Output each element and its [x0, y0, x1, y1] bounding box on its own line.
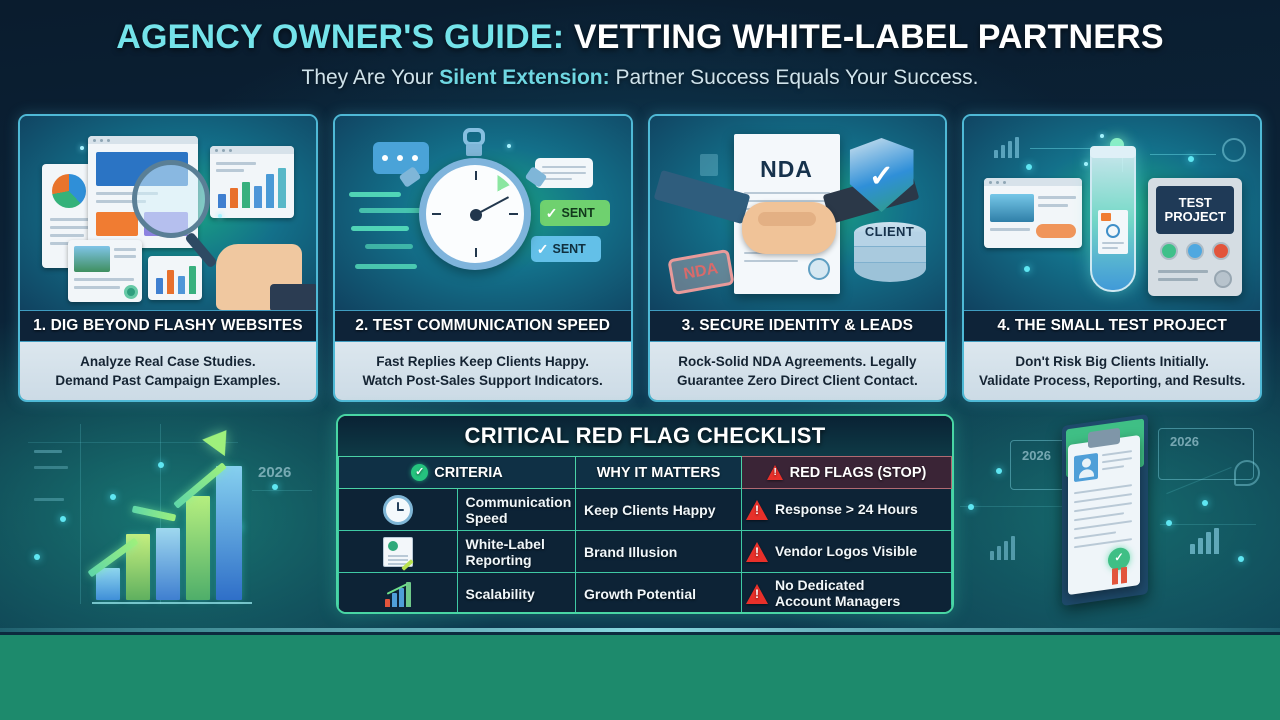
- step-card-4[interactable]: TEST PROJECT 4. THE SMALL TEST PROJECT D…: [962, 114, 1262, 402]
- cell-criteria: Communication Speed: [457, 489, 576, 531]
- test-project-device: TEST PROJECT: [1148, 178, 1242, 296]
- table-row: White-Label Reporting Brand Illusion Ven…: [339, 531, 952, 573]
- step-card-1-body: Analyze Real Case Studies. Demand Past C…: [20, 342, 316, 400]
- test-tube: [1090, 146, 1136, 292]
- row-icon-report: [339, 531, 458, 573]
- analytics-window: [210, 146, 294, 218]
- mini-bar-chart: [148, 256, 202, 300]
- nda-handshake-shield-icon: NDA ✓: [650, 116, 946, 310]
- nda-stamp: NDA: [667, 249, 734, 295]
- check-icon: ✓: [546, 205, 558, 222]
- step-card-3-body: Rock-Solid NDA Agreements. Legally Guara…: [650, 342, 946, 400]
- step-card-1-line1: Analyze Real Case Studies.: [80, 352, 256, 371]
- cell-red-flag-line2: Account Managers: [775, 594, 900, 610]
- stopwatch-chat-bubbles-icon: ✓ SENT ✓ SENT: [335, 116, 631, 310]
- media-card: [68, 240, 142, 302]
- cell-why: Brand Illusion: [576, 531, 742, 573]
- sent-badge-blue: ✓ SENT: [531, 236, 601, 262]
- checklist-table: CRITERIA WHY IT MATTERS RED FLAGS (STOP): [338, 456, 952, 614]
- row-icon-growth: [339, 573, 458, 615]
- growth-chart-decoration: 2026: [0, 406, 330, 628]
- header: AGENCY OWNER'S GUIDE: VETTING WHITE-LABE…: [0, 18, 1280, 90]
- browser-preview: [984, 178, 1082, 248]
- sent-badge-green: ✓ SENT: [540, 200, 610, 226]
- step-card-3-line2: Guarantee Zero Direct Client Contact.: [677, 371, 918, 390]
- cell-red-flag: No Dedicated Account Managers: [742, 573, 952, 615]
- step-card-2-line1: Fast Replies Keep Clients Happy.: [376, 352, 589, 371]
- page-subtitle: They Are Your Silent Extension: Partner …: [0, 66, 1280, 90]
- sent-label-1: SENT: [561, 206, 594, 220]
- red-button[interactable]: [1212, 242, 1230, 260]
- step-card-3[interactable]: NDA ✓: [648, 114, 948, 402]
- test-tube-device-icon: TEST PROJECT: [964, 116, 1260, 310]
- knob[interactable]: [1214, 270, 1232, 288]
- right-year-label-2: 2026: [1170, 434, 1199, 449]
- column-header-red-flags: RED FLAGS (STOP): [742, 457, 952, 489]
- nda-stamp-label: NDA: [682, 260, 719, 284]
- column-header-why-label: WHY IT MATTERS: [597, 465, 721, 481]
- chat-icon: [1234, 460, 1260, 486]
- step-card-4-title: 4. THE SMALL TEST PROJECT: [964, 310, 1260, 342]
- magnifying-glass-dashboards-icon: [20, 116, 316, 310]
- blue-button[interactable]: [1186, 242, 1204, 260]
- client-db-label: CLIENT: [854, 224, 926, 239]
- column-header-criteria: CRITERIA: [339, 457, 576, 489]
- table-header-row: CRITERIA WHY IT MATTERS RED FLAGS (STOP): [339, 457, 952, 489]
- left-year-label: 2026: [258, 464, 291, 481]
- arrow-head: [202, 422, 238, 456]
- green-button[interactable]: [1160, 242, 1178, 260]
- gear-icon: [1222, 138, 1246, 162]
- doc-search-glyph: [700, 154, 718, 176]
- growth-chart-icon: [383, 579, 413, 609]
- sleeve: [270, 284, 316, 310]
- row-icon-clock: [339, 489, 458, 531]
- report-document-icon: [383, 537, 413, 567]
- step-card-2-body: Fast Replies Keep Clients Happy. Watch P…: [335, 342, 631, 400]
- warning-icon: [746, 584, 768, 604]
- bottom-green-bar: [0, 632, 1280, 720]
- cell-red-flag-line1: No Dedicated: [775, 578, 900, 594]
- sent-label-2: SENT: [552, 242, 585, 256]
- warning-icon: [746, 542, 768, 562]
- subtitle-pre: They Are Your: [302, 66, 440, 89]
- step-card-4-line1: Don't Risk Big Clients Initially.: [1015, 352, 1208, 371]
- steps-card-row: 1. DIG BEYOND FLASHY WEBSITES Analyze Re…: [18, 114, 1262, 402]
- subtitle-accent: Silent Extension:: [439, 66, 609, 89]
- typing-bubble: [373, 142, 429, 174]
- shield-check-icon: ✓: [850, 162, 914, 192]
- column-header-criteria-label: CRITERIA: [434, 465, 502, 481]
- cell-why: Keep Clients Happy: [576, 489, 742, 531]
- device-label-2: PROJECT: [1165, 210, 1226, 224]
- cell-criteria: Scalability: [457, 573, 576, 615]
- step-card-1-title: 1. DIG BEYOND FLASHY WEBSITES: [20, 310, 316, 342]
- clock-icon: [383, 495, 413, 525]
- step-card-4-line2: Validate Process, Reporting, and Results…: [979, 371, 1245, 390]
- cell-red-flag-label: Response > 24 Hours: [775, 502, 918, 518]
- nda-doc-label: NDA: [734, 156, 840, 183]
- step-card-2[interactable]: ✓ SENT ✓ SENT: [333, 114, 633, 402]
- magnifier-lens: [132, 160, 210, 238]
- cell-red-flag: Response > 24 Hours: [742, 489, 952, 531]
- cell-red-flag-label: Vendor Logos Visible: [775, 544, 917, 560]
- page-title-accent: AGENCY OWNER'S GUIDE:: [116, 18, 564, 56]
- step-card-3-line1: Rock-Solid NDA Agreements. Legally: [678, 352, 916, 371]
- step-card-2-line2: Watch Post-Sales Support Indicators.: [362, 371, 602, 390]
- column-header-why: WHY IT MATTERS: [576, 457, 742, 489]
- column-header-red-flags-label: RED FLAGS (STOP): [790, 465, 927, 481]
- client-database-icon: CLIENT: [854, 222, 926, 288]
- stopwatch-body: [419, 158, 531, 270]
- cell-why: Growth Potential: [576, 573, 742, 615]
- profile-photo: [1074, 453, 1098, 482]
- pie-chart-icon: [52, 174, 86, 208]
- device-label-1: TEST: [1179, 196, 1212, 210]
- clipboard-clamp: [1088, 428, 1120, 448]
- checklist-title: CRITICAL RED FLAG CHECKLIST: [338, 416, 952, 456]
- infographic-canvas: AGENCY OWNER'S GUIDE: VETTING WHITE-LABE…: [0, 0, 1280, 632]
- subtitle-post: Partner Success Equals Your Success.: [610, 66, 979, 89]
- page-title: AGENCY OWNER'S GUIDE: VETTING WHITE-LABE…: [0, 18, 1280, 57]
- step-card-3-title: 3. SECURE IDENTITY & LEADS: [650, 310, 946, 342]
- verified-badge-icon: [411, 464, 428, 481]
- table-row: Communication Speed Keep Clients Happy R…: [339, 489, 952, 531]
- step-card-1-line2: Demand Past Campaign Examples.: [55, 371, 280, 390]
- check-icon: ✓: [537, 241, 549, 258]
- clipboard-sheet: ✓: [1068, 435, 1140, 595]
- step-card-1[interactable]: 1. DIG BEYOND FLASHY WEBSITES Analyze Re…: [18, 114, 318, 402]
- cell-criteria: White-Label Reporting: [457, 531, 576, 573]
- step-card-4-body: Don't Risk Big Clients Initially. Valida…: [964, 342, 1260, 400]
- step-card-2-title: 2. TEST COMMUNICATION SPEED: [335, 310, 631, 342]
- cell-red-flag: Vendor Logos Visible: [742, 531, 952, 573]
- table-row: Scalability Growth Potential No Dedicate…: [339, 573, 952, 615]
- warning-icon: [767, 465, 784, 480]
- credentials-clipboard-decoration: 2026 2026 ✓: [950, 406, 1280, 628]
- right-year-label-1: 2026: [1022, 448, 1051, 463]
- red-flag-checklist-panel: CRITICAL RED FLAG CHECKLIST CRITERIA WHY…: [336, 414, 954, 614]
- handshake: [742, 202, 836, 254]
- warning-icon: [746, 500, 768, 520]
- page-title-plain: VETTING WHITE-LABEL PARTNERS: [574, 18, 1164, 56]
